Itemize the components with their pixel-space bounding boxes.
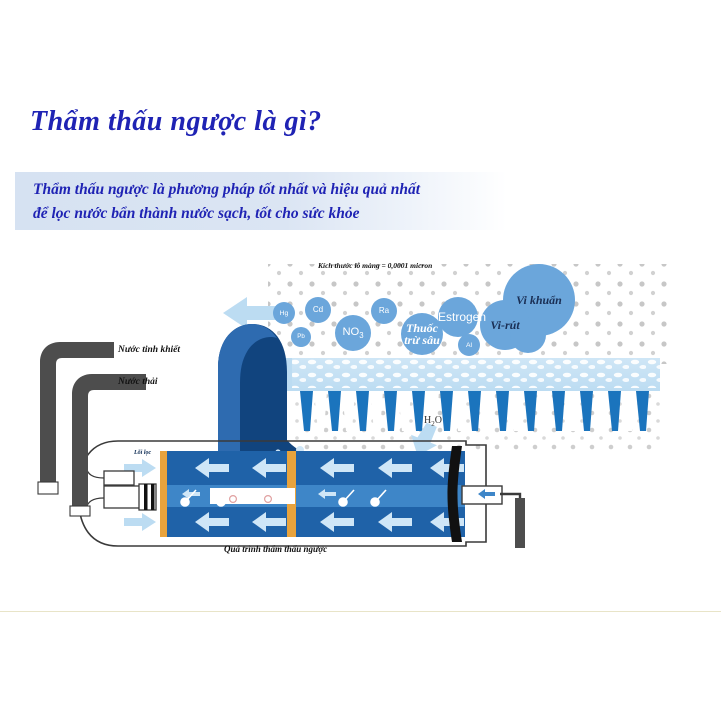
label-process: Quá trình thẩm thấu ngược [224, 544, 327, 554]
diagram-figure [0, 240, 721, 585]
label-waste-water: Nước thải [118, 377, 158, 387]
subtitle-line-1: Thẩm thấu ngược là phương pháp tốt nhất … [33, 181, 420, 199]
page-title: Thẩm thấu ngược là gì? [30, 106, 322, 138]
subtitle-line-2: để lọc nước bẩn thành nước sạch, tốt cho… [33, 205, 360, 223]
pore-size-note: Kích thước lỗ màng = 0,0001 micron [318, 261, 432, 270]
footer-divider [0, 611, 721, 612]
h2o-o: O [435, 415, 442, 426]
label-pure-water: Nước tinh khiết [118, 345, 180, 355]
return-channel [462, 486, 525, 548]
label-filter-core: Lõi lọc [134, 450, 151, 456]
label-h2o: H2O [424, 415, 442, 428]
slide-canvas: Thẩm thấu ngược là gì? Thẩm thấu ngược l… [0, 0, 721, 721]
subtitle-banner: Thẩm thấu ngược là phương pháp tốt nhất … [15, 172, 507, 230]
